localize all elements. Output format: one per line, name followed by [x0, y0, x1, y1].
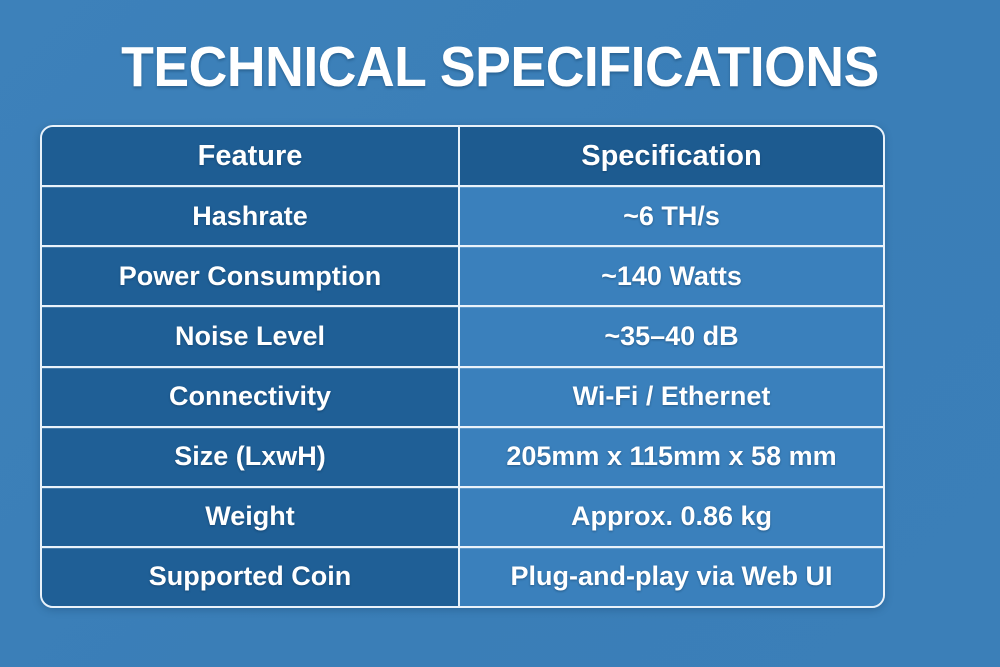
column-header-specification: Specification	[460, 127, 883, 185]
feature-name: Power Consumption	[42, 247, 460, 305]
feature-value: ~6 TH/s	[460, 187, 883, 245]
table-row: Hashrate ~6 TH/s	[42, 187, 883, 247]
specifications-table: Feature Specification Hashrate ~6 TH/s P…	[40, 125, 885, 608]
page-title: TECHNICAL SPECIFICATIONS	[30, 36, 970, 98]
feature-value: ~140 Watts	[460, 247, 883, 305]
feature-name: Connectivity	[42, 368, 460, 426]
feature-name: Weight	[42, 488, 460, 546]
table-row: Power Consumption ~140 Watts	[42, 247, 883, 307]
feature-name: Hashrate	[42, 187, 460, 245]
feature-value: 205mm x 115mm x 58 mm	[460, 428, 883, 486]
table-row: Size (LxwH) 205mm x 115mm x 58 mm	[42, 428, 883, 488]
feature-name: Size (LxwH)	[42, 428, 460, 486]
feature-value: Wi-Fi / Ethernet	[460, 368, 883, 426]
table-header-row: Feature Specification	[42, 127, 883, 187]
feature-name: Supported Coin	[42, 548, 460, 606]
feature-name: Noise Level	[42, 307, 460, 365]
table-row: Noise Level ~35–40 dB	[42, 307, 883, 367]
column-header-feature: Feature	[42, 127, 460, 185]
table-row: Connectivity Wi-Fi / Ethernet	[42, 368, 883, 428]
feature-value: ~35–40 dB	[460, 307, 883, 365]
specifications-page: TECHNICAL SPECIFICATIONS Feature Specifi…	[0, 0, 1000, 667]
feature-value: Plug-and-play via Web UI	[460, 548, 883, 606]
table-row: Weight Approx. 0.86 kg	[42, 488, 883, 548]
table-row: Supported Coin Plug-and-play via Web UI	[42, 548, 883, 606]
feature-value: Approx. 0.86 kg	[460, 488, 883, 546]
